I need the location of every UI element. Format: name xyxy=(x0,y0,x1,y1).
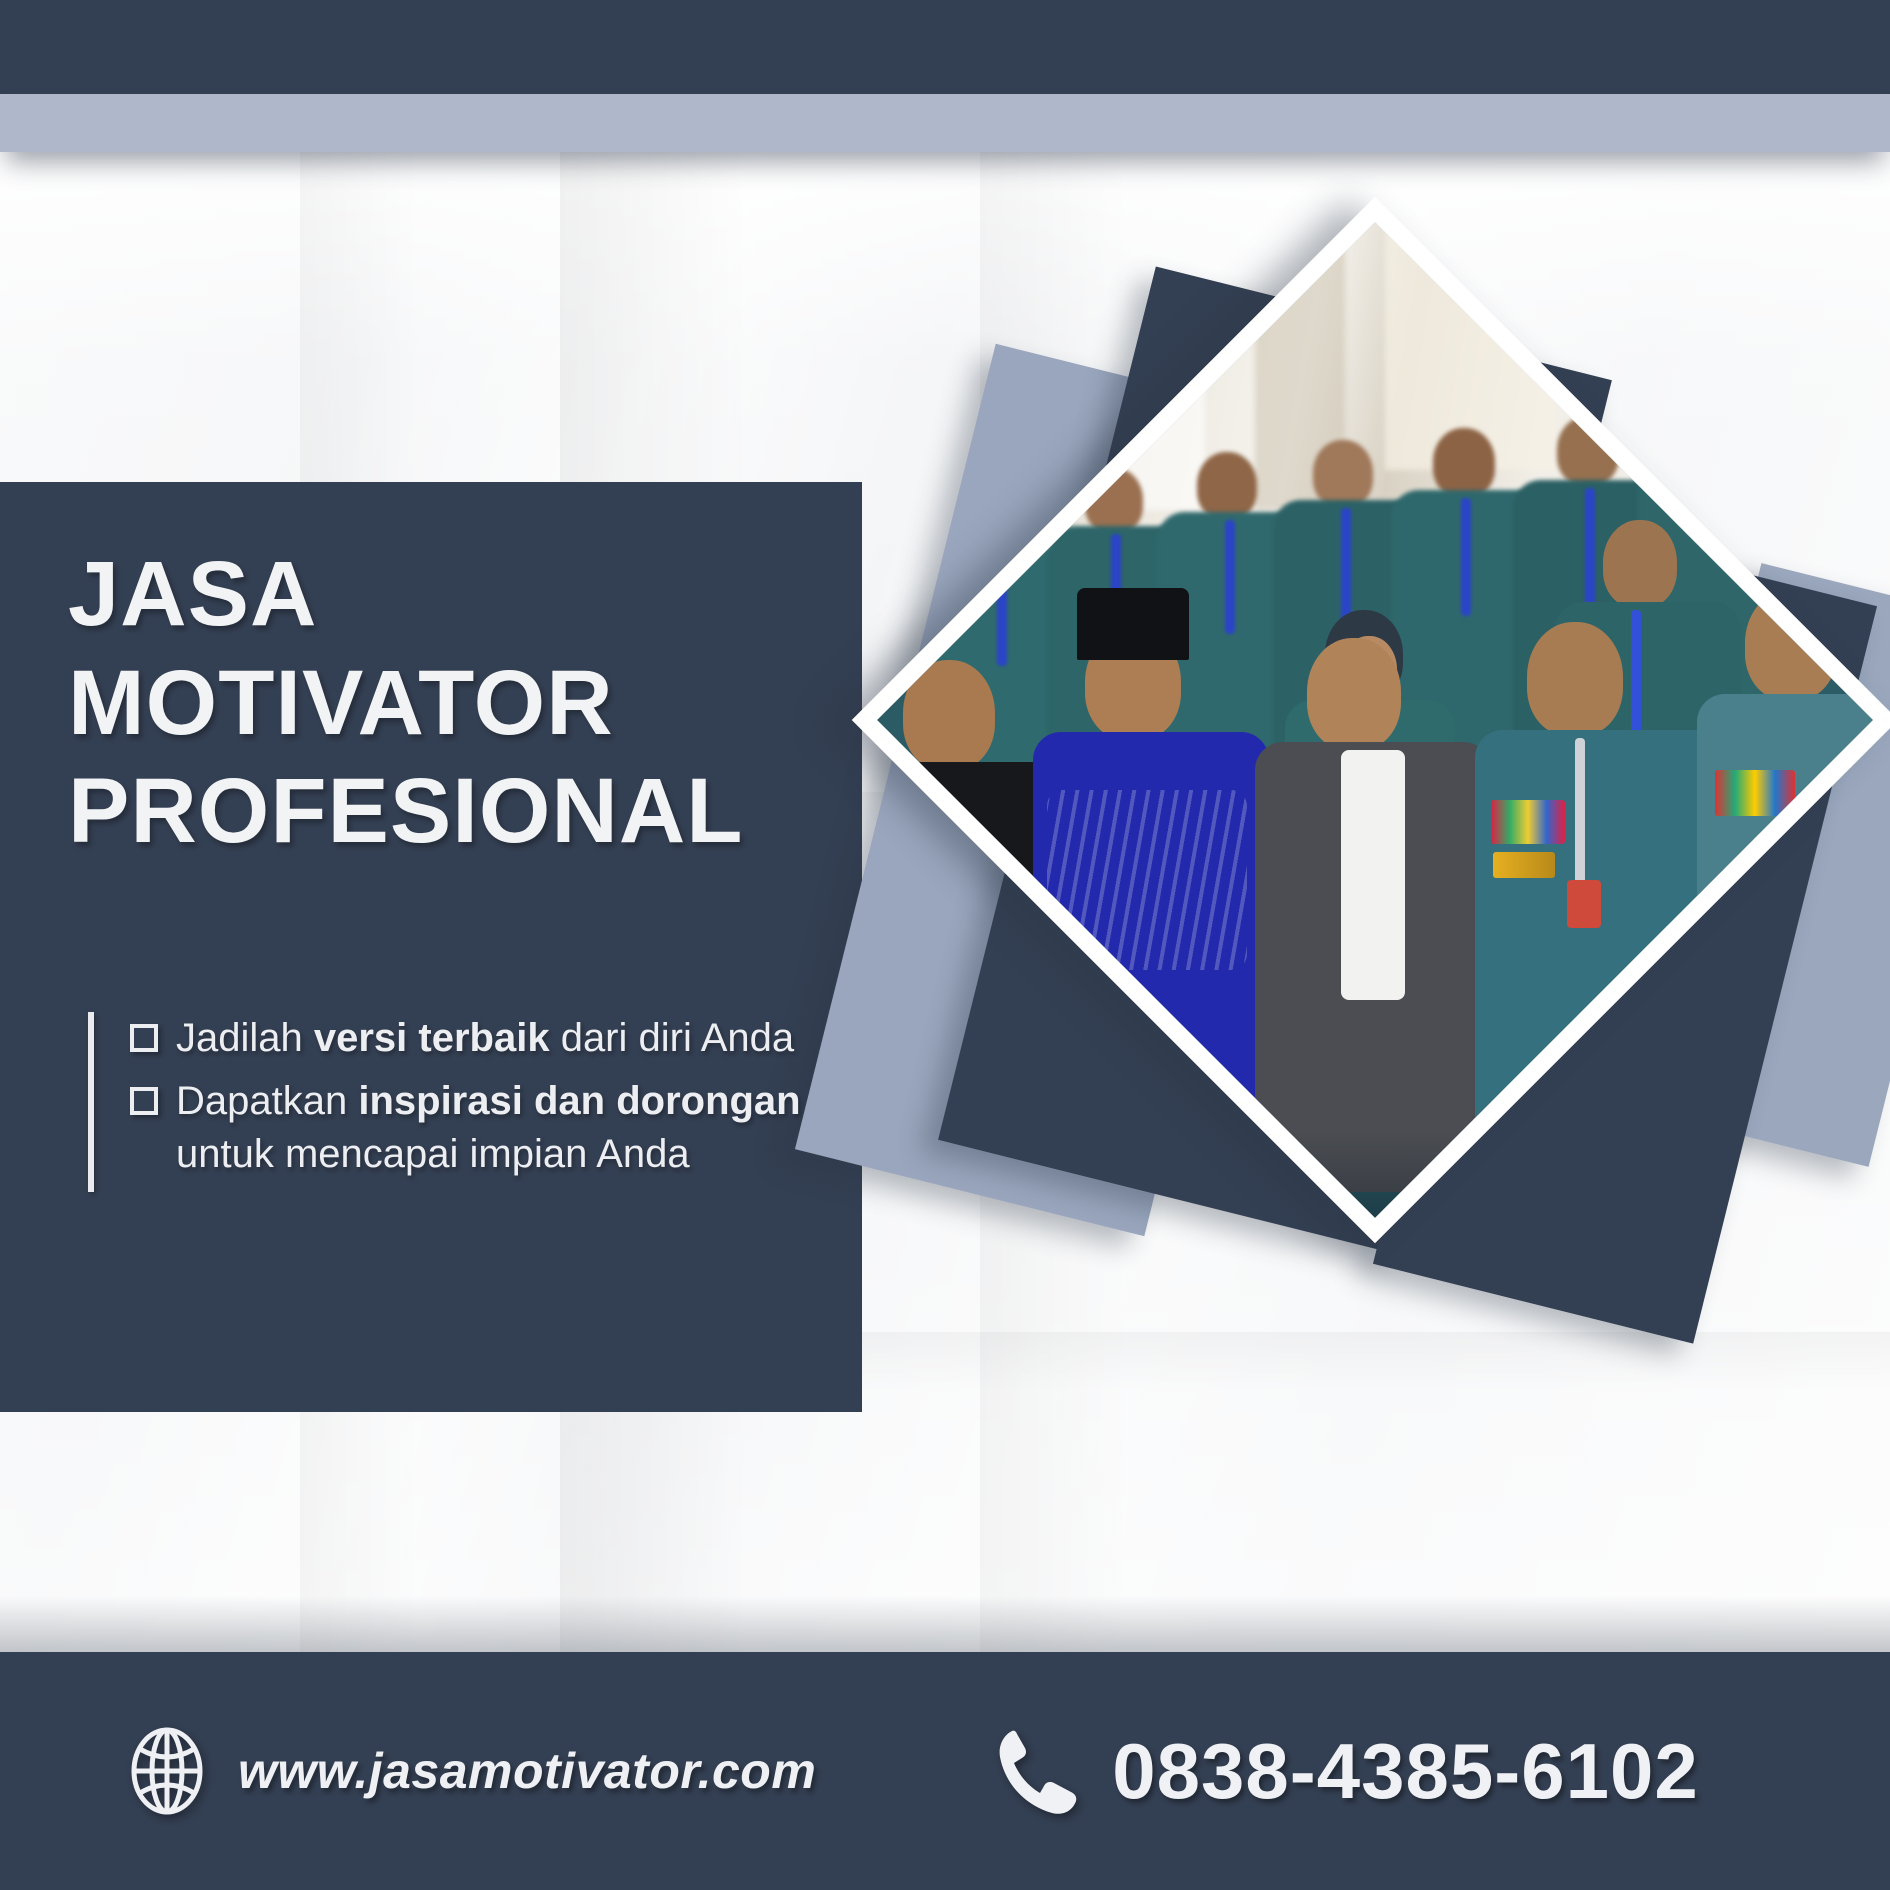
globe-icon xyxy=(128,1725,206,1817)
bullet-2-suffix: untuk mencapai impian Anda xyxy=(176,1132,690,1176)
footer-shadow xyxy=(0,1596,1890,1654)
website-text: www.jasamotivator.com xyxy=(238,1742,816,1800)
phone-icon xyxy=(994,1725,1078,1817)
header-bar-dark xyxy=(0,0,1890,94)
benefits-list: Jadilah versi terbaik dari diri Anda Dap… xyxy=(88,1012,848,1192)
bullet-1-suffix: dari diri Anda xyxy=(550,1016,795,1060)
phone-text: 0838-4385-6102 xyxy=(1112,1726,1699,1817)
bullet-2-prefix: Dapatkan xyxy=(176,1079,358,1123)
phone-contact[interactable]: 0838-4385-6102 xyxy=(994,1725,1699,1817)
list-item-text: Dapatkan inspirasi dan dorongan untuk me… xyxy=(176,1075,848,1181)
page-title: JASA MOTIVATOR PROFESIONAL xyxy=(68,540,868,866)
checkbox-square-icon xyxy=(130,1087,158,1115)
bullet-2-bold: inspirasi dan dorongan xyxy=(358,1079,800,1123)
checkbox-square-icon xyxy=(130,1024,158,1052)
accent-divider xyxy=(88,1012,94,1192)
bullet-1-bold: versi terbaik xyxy=(314,1016,550,1060)
photo-collage xyxy=(760,255,1890,1355)
footer-bar: www.jasamotivator.com 0838-4385-6102 xyxy=(0,1652,1890,1890)
list-item-text: Jadilah versi terbaik dari diri Anda xyxy=(176,1012,848,1065)
title-line-1: JASA xyxy=(68,540,868,649)
website-contact[interactable]: www.jasamotivator.com xyxy=(128,1725,816,1817)
bullet-1-prefix: Jadilah xyxy=(176,1016,314,1060)
list-item: Dapatkan inspirasi dan dorongan untuk me… xyxy=(130,1075,848,1181)
title-line-2: MOTIVATOR xyxy=(68,649,868,758)
title-line-3: PROFESIONAL xyxy=(68,757,868,866)
list-item: Jadilah versi terbaik dari diri Anda xyxy=(130,1012,848,1065)
header-bar-light xyxy=(0,94,1890,152)
